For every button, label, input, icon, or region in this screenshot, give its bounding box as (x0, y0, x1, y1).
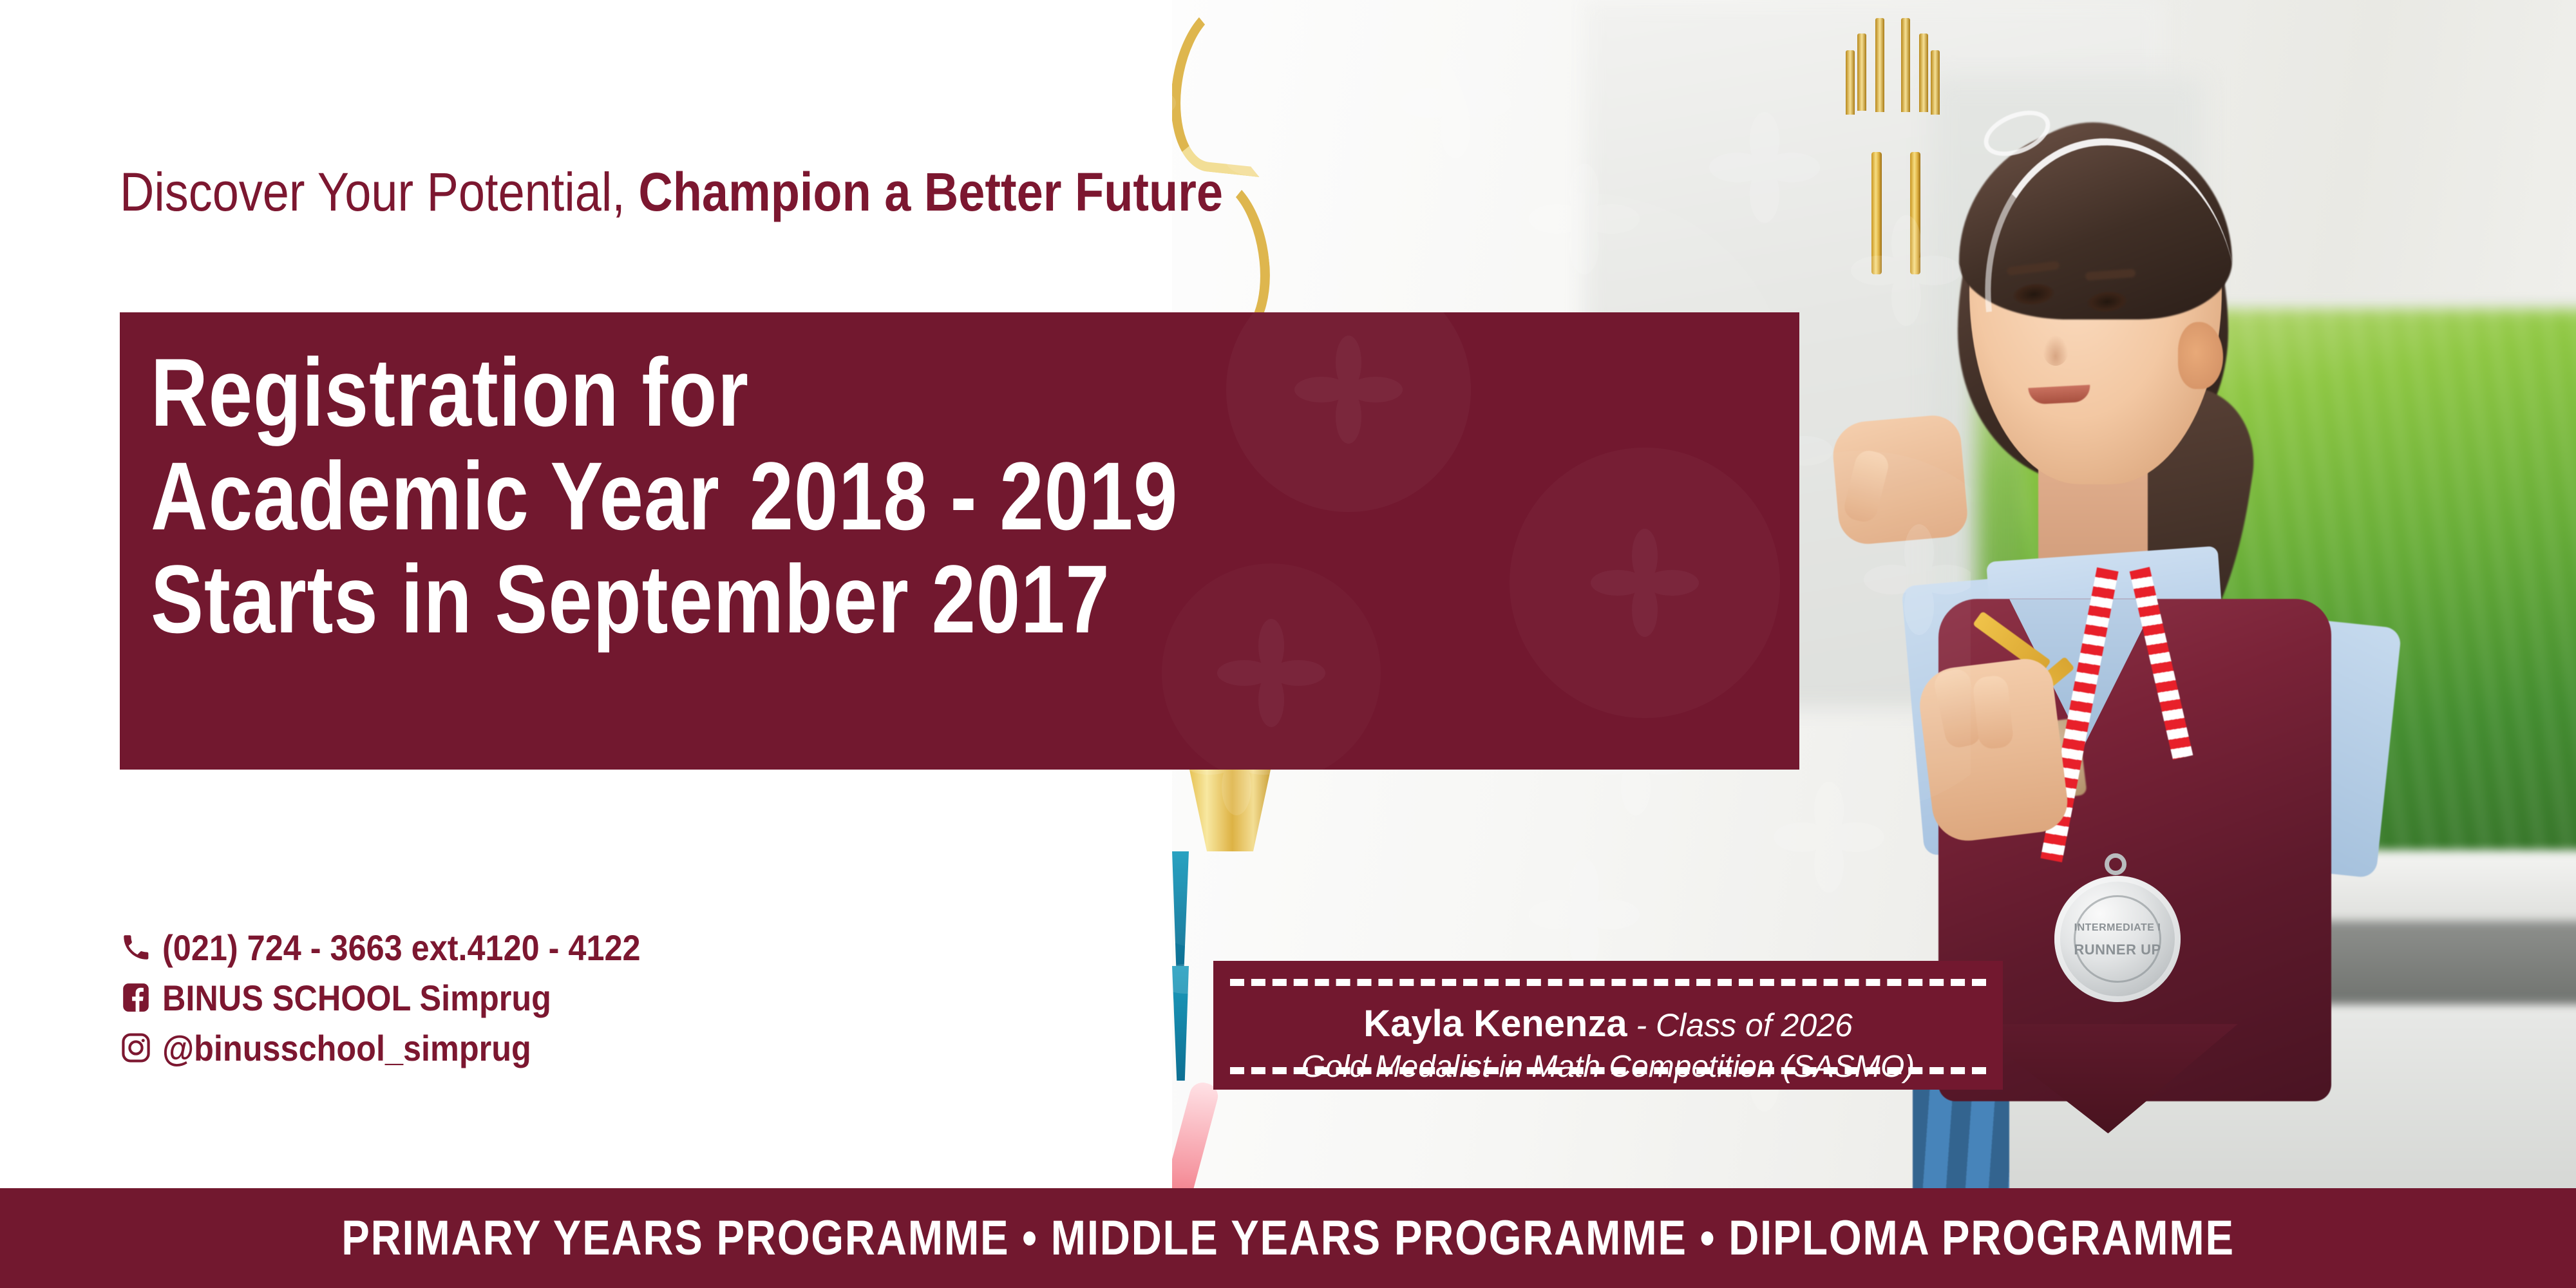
trophy-column-left (1871, 152, 1882, 274)
trophy-prong-2 (1875, 18, 1884, 112)
trophy-prong-1 (1857, 33, 1866, 111)
contact-row-phone[interactable]: (021) 724 - 3663 ext.4120 - 4122 (120, 922, 694, 972)
caption-line-1: Kayla Kenenza - Class of 2026 (1220, 1002, 1996, 1045)
contact-facebook-label: BINUS SCHOOL Simprug (162, 977, 551, 1019)
headline-line-2: Academic Year2018 - 2019 (151, 444, 1502, 548)
facebook-icon (120, 981, 162, 1014)
admissions-banner: INTERMEDIATE I RUNNER UP Tennis Academy (0, 0, 2576, 1288)
headline-block: Registration for Academic Year2018 - 201… (120, 312, 1799, 770)
headline-academic-year-label: Academic Year (151, 442, 720, 550)
tagline: Discover Your Potential, Champion a Bett… (120, 161, 1763, 223)
medal-ring (2105, 853, 2126, 875)
programme-footer-bar: PRIMARY YEARS PROGRAMME • MIDDLE YEARS P… (0, 1188, 2576, 1288)
caption-student-class: - Class of 2026 (1627, 1007, 1853, 1043)
phone-icon (120, 931, 162, 963)
caption-student-name: Kayla Kenenza (1363, 1003, 1627, 1045)
trophy-column-right (1910, 152, 1920, 274)
medal-text-rank: RUNNER UP (2054, 942, 2181, 958)
student-nose (2043, 335, 2069, 366)
medal-text-category: INTERMEDIATE I (2054, 922, 2181, 934)
tagline-light: Discover Your Potential, (120, 162, 638, 222)
contact-list: (021) 724 - 3663 ext.4120 - 4122 BINUS S… (120, 922, 694, 1073)
contact-row-facebook[interactable]: BINUS SCHOOL Simprug (120, 972, 694, 1023)
headline-academic-year-range: 2018 - 2019 (750, 442, 1179, 550)
footer-programmes-label: PRIMARY YEARS PROGRAMME • MIDDLE YEARS P… (341, 1210, 2235, 1266)
trophy-prong-3 (1901, 18, 1910, 112)
medal-disc-inner-ring (2074, 895, 2161, 983)
student-caption-box: Kayla Kenenza - Class of 2026 Gold Medal… (1213, 961, 2003, 1090)
instagram-icon (120, 1032, 162, 1064)
tagline-bold: Champion a Better Future (638, 162, 1223, 222)
contact-row-instagram[interactable]: @binusschool_simprug (120, 1023, 694, 1073)
trophy-prong-4 (1919, 33, 1928, 112)
headline-line-1: Registration for (151, 341, 1502, 444)
contact-phone-label: (021) 724 - 3663 ext.4120 - 4122 (162, 927, 641, 969)
caption-achievement: Gold Medalist in Math Competition (SASMO… (1220, 1049, 1996, 1084)
trophy-prong-5 (1846, 50, 1855, 115)
contact-instagram-label: @binusschool_simprug (162, 1027, 531, 1069)
student-ear (2178, 322, 2223, 389)
headline-line-3: Starts in September 2017 (151, 547, 1502, 651)
trophy-prong-6 (1931, 50, 1940, 115)
